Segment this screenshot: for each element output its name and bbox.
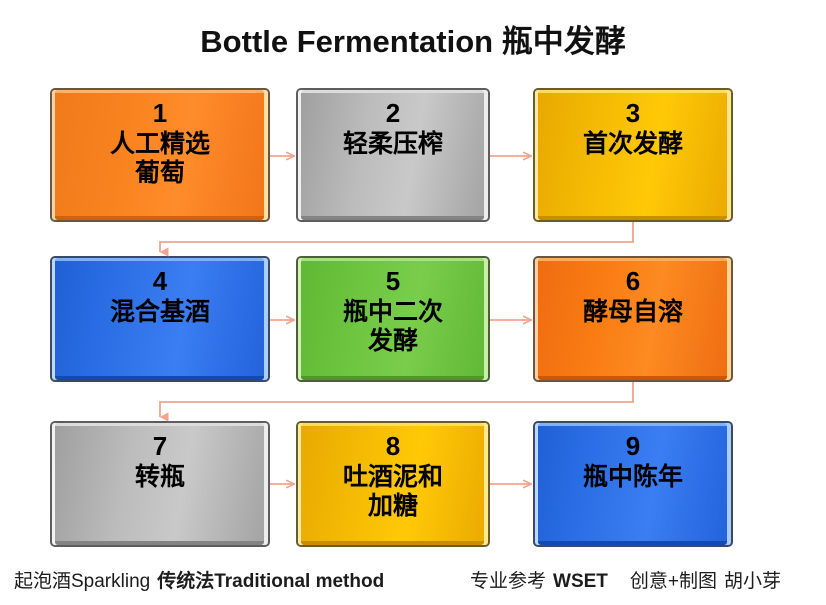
- flow-node-label: 混合基酒: [110, 298, 210, 327]
- footer-sparkling-text: 起泡酒Sparkling: [14, 566, 150, 593]
- flow-node-5[interactable]: 5 瓶中二次 发酵: [298, 258, 488, 380]
- flow-node-3[interactable]: 3 首次发酵: [535, 90, 731, 220]
- footer-left-group: 起泡酒Sparkling传统法Traditional method: [14, 566, 384, 593]
- flow-node-number: 6: [626, 266, 640, 296]
- flow-node-4[interactable]: 4 混合基酒: [52, 258, 268, 380]
- flow-node-number: 5: [386, 266, 400, 296]
- flow-node-label: 人工精选 葡萄: [110, 130, 210, 188]
- footer-traditional-method-text: 传统法Traditional method: [157, 566, 384, 593]
- footer-credit-label: 创意+制图: [630, 566, 717, 593]
- flow-node-label: 吐酒泥和 加糖: [343, 463, 443, 521]
- flow-node-number: 1: [153, 98, 167, 128]
- flow-node-9[interactable]: 9 瓶中陈年: [535, 423, 731, 545]
- flow-node-number: 7: [153, 431, 167, 461]
- flow-node-label: 轻柔压榨: [343, 130, 443, 159]
- flow-node-label: 转瓶: [135, 463, 185, 492]
- footer-reference-label: 专业参考: [470, 566, 546, 593]
- flow-node-7[interactable]: 7 转瓶: [52, 423, 268, 545]
- flow-node-number: 2: [386, 98, 400, 128]
- flow-node-1[interactable]: 1 人工精选 葡萄: [52, 90, 268, 220]
- flow-node-8[interactable]: 8 吐酒泥和 加糖: [298, 423, 488, 545]
- flow-node-label: 瓶中陈年: [583, 463, 683, 492]
- flow-node-number: 9: [626, 431, 640, 461]
- flow-node-label: 酵母自溶: [583, 298, 683, 327]
- flow-node-label: 瓶中二次 发酵: [343, 298, 443, 356]
- footer-credit-value: 胡小芽: [724, 566, 781, 593]
- flow-node-number: 4: [153, 266, 167, 296]
- flow-node-2[interactable]: 2 轻柔压榨: [298, 90, 488, 220]
- footer-caption: 起泡酒Sparkling传统法Traditional method 专业参考WS…: [0, 560, 826, 598]
- flow-node-number: 8: [386, 431, 400, 461]
- flow-node-number: 3: [626, 98, 640, 128]
- footer-right-group: 专业参考WSET创意+制图胡小芽: [470, 566, 781, 593]
- flowchart: 1 人工精选 葡萄 2 轻柔压榨 3 首次发酵 4 混合基酒 5 瓶中二次 发酵…: [0, 0, 826, 605]
- flow-node-label: 首次发酵: [583, 130, 683, 159]
- footer-reference-value: WSET: [553, 571, 608, 593]
- flow-node-6[interactable]: 6 酵母自溶: [535, 258, 731, 380]
